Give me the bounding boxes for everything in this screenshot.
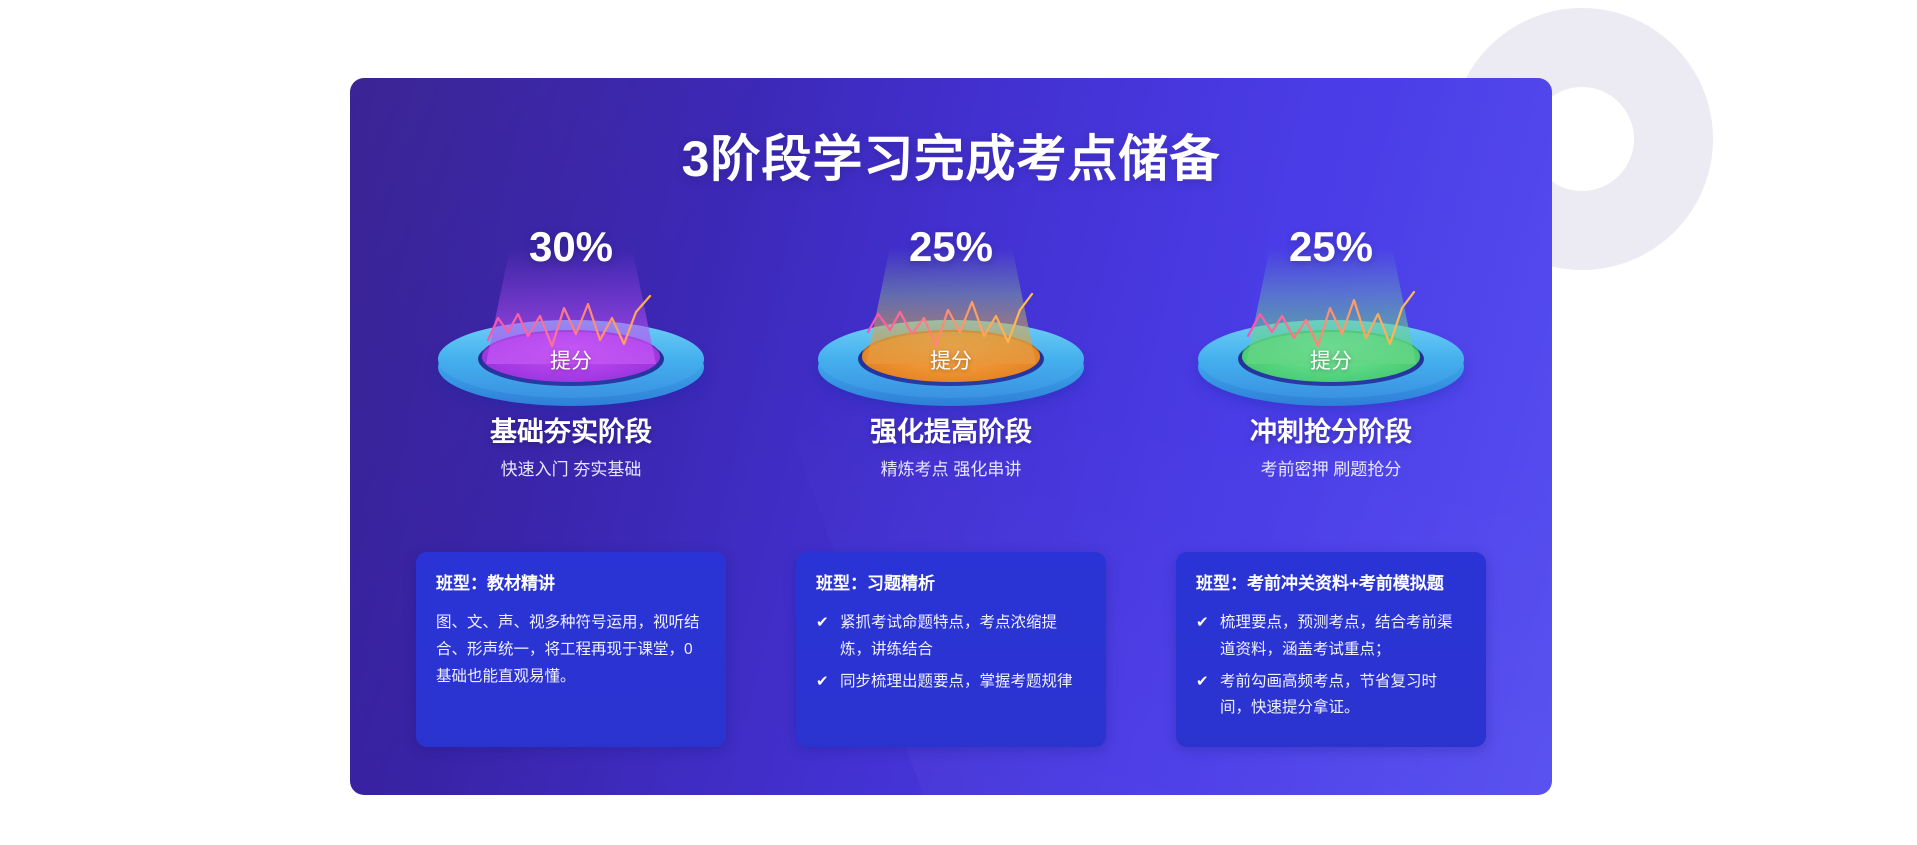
info-box-bullet-list-3: ✔ 梳理要点，预测考点，结合考前渠道资料，涵盖考试重点； ✔ 考前勾画高频考点，… (1196, 610, 1466, 722)
info-box-title-2: 班型：习题精析 (816, 574, 1086, 594)
stage-card-3[interactable]: 25% 提分 冲刺抢分阶段 考前密押 刷题抢分 (1176, 226, 1486, 479)
stage-title-1: 基础夯实阶段 (416, 418, 726, 448)
list-item: ✔ 考前勾画高频考点，节省复习时间，快速提分拿证。 (1196, 669, 1466, 722)
stage-title-3: 冲刺抢分阶段 (1176, 418, 1486, 448)
info-box-3[interactable]: 班型：考前冲关资料+考前模拟题 ✔ 梳理要点，预测考点，结合考前渠道资料，涵盖考… (1176, 552, 1486, 747)
stage-percent-1: 30% (416, 226, 726, 268)
list-item-label: 梳理要点，预测考点，结合考前渠道资料，涵盖考试重点； (1220, 614, 1453, 658)
info-box-2[interactable]: 班型：习题精析 ✔ 紧抓考试命题特点，考点浓缩提炼，讲练结合 ✔ 同步梳理出题要… (796, 552, 1106, 747)
stage-subtitle-3: 考前密押 刷题抢分 (1176, 461, 1486, 480)
podium-graphic-2: 25% 提分 (796, 226, 1106, 416)
promo-card: 3阶段学习完成考点储备 (350, 78, 1552, 795)
stage-title-2: 强化提高阶段 (796, 418, 1106, 448)
stage-card-2[interactable]: 25% 提分 强化提高阶段 精炼考点 强化串讲 (796, 226, 1106, 479)
page-title: 3阶段学习完成考点储备 (350, 134, 1552, 184)
info-box-description-1: 图、文、声、视多种符号运用，视听结合、形声统一，将工程再现于课堂，0基础也能直观… (436, 610, 706, 690)
stage-card-1[interactable]: 30% 提分 基础夯实阶段 快速入门 夯实基础 (416, 226, 726, 479)
check-icon: ✔ (1196, 610, 1209, 636)
info-box-title-3: 班型：考前冲关资料+考前模拟题 (1196, 574, 1466, 594)
list-item: ✔ 梳理要点，预测考点，结合考前渠道资料，涵盖考试重点； (1196, 610, 1466, 663)
page-root: 3阶段学习完成考点储备 (0, 0, 1917, 845)
list-item-label: 同步梳理出题要点，掌握考题规律 (840, 673, 1073, 690)
list-item-label: 紧抓考试命题特点，考点浓缩提炼，讲练结合 (840, 614, 1057, 658)
podium-graphic-1: 30% 提分 (416, 226, 726, 416)
stages-row: 30% 提分 基础夯实阶段 快速入门 夯实基础 (350, 226, 1552, 479)
stage-subtitle-1: 快速入门 夯实基础 (416, 461, 726, 480)
stage-percent-3: 25% (1176, 226, 1486, 268)
list-item: ✔ 同步梳理出题要点，掌握考题规律 (816, 669, 1086, 696)
podium-graphic-3: 25% 提分 (1176, 226, 1486, 416)
stage-badge-2: 提分 (796, 351, 1106, 372)
info-box-1[interactable]: 班型：教材精讲 图、文、声、视多种符号运用，视听结合、形声统一，将工程再现于课堂… (416, 552, 726, 747)
check-icon: ✔ (816, 669, 829, 695)
stage-percent-2: 25% (796, 226, 1106, 268)
info-boxes-row: 班型：教材精讲 图、文、声、视多种符号运用，视听结合、形声统一，将工程再现于课堂… (350, 552, 1552, 747)
check-icon: ✔ (1196, 669, 1209, 695)
stage-badge-3: 提分 (1176, 351, 1486, 372)
info-box-bullet-list-2: ✔ 紧抓考试命题特点，考点浓缩提炼，讲练结合 ✔ 同步梳理出题要点，掌握考题规律 (816, 610, 1086, 695)
check-icon: ✔ (816, 610, 829, 636)
list-item-label: 考前勾画高频考点，节省复习时间，快速提分拿证。 (1220, 673, 1437, 717)
stage-badge-1: 提分 (416, 351, 726, 372)
list-item: ✔ 紧抓考试命题特点，考点浓缩提炼，讲练结合 (816, 610, 1086, 663)
stage-subtitle-2: 精炼考点 强化串讲 (796, 461, 1106, 480)
info-box-title-1: 班型：教材精讲 (436, 574, 706, 594)
